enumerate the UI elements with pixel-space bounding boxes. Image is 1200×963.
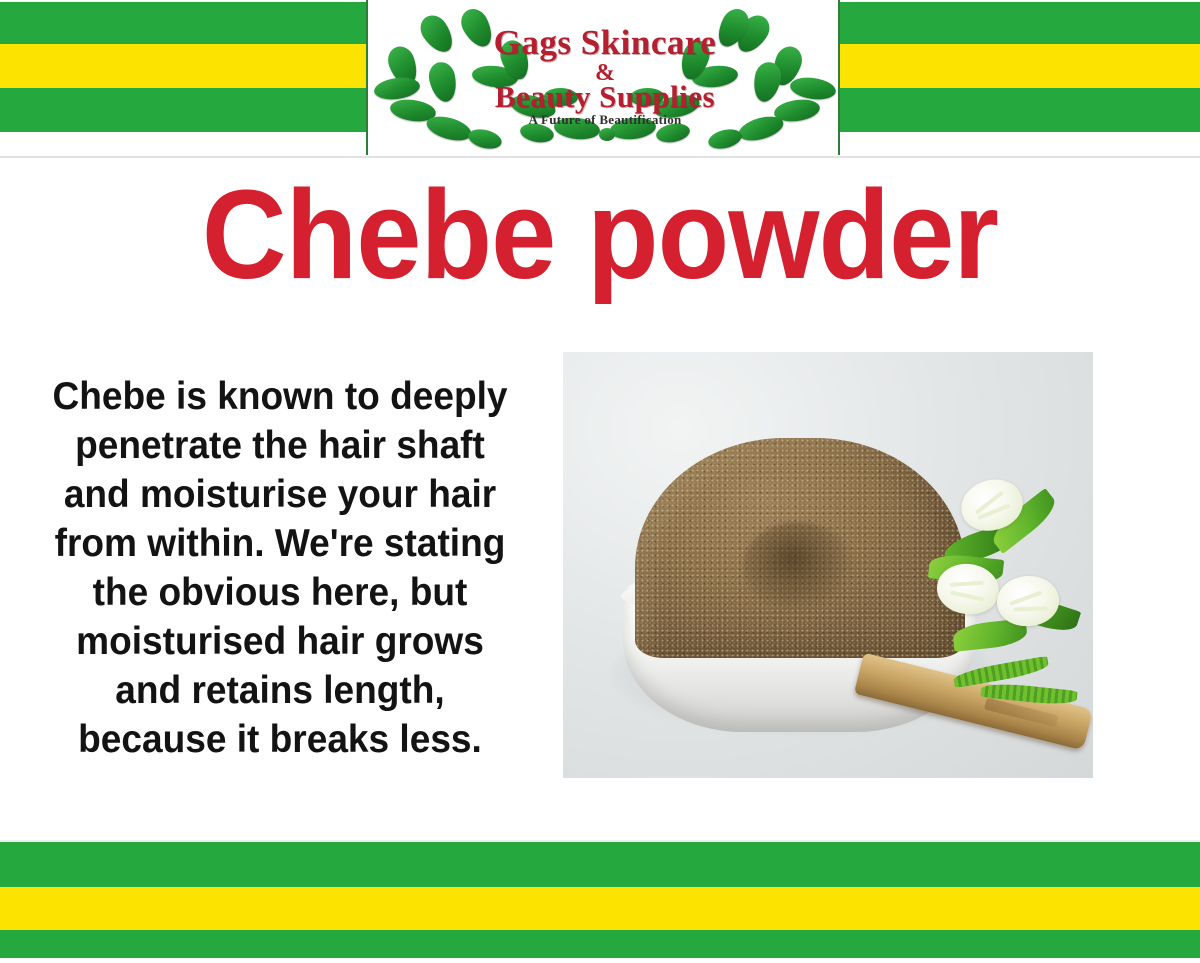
- top-banner: Gags Skincare & Beauty Supplies A Future…: [0, 0, 1200, 134]
- bottom-stripe-yellow: [0, 887, 1200, 930]
- product-photo: [563, 352, 1093, 778]
- bottom-stripe-green-upper: [0, 842, 1200, 887]
- flyer-page: Gags Skincare & Beauty Supplies A Future…: [0, 0, 1200, 963]
- description-line: from within. We're stating: [55, 522, 506, 565]
- description-line: Chebe is known to deeply: [53, 375, 508, 418]
- bottom-banner: [0, 842, 1200, 960]
- fern-frond: [952, 656, 1049, 688]
- description-line: and moisturise your hair: [64, 473, 496, 516]
- description-line: penetrate the hair shaft: [75, 424, 485, 467]
- flower-decoration: [935, 472, 1093, 772]
- bottom-stripe-green-lower: [0, 930, 1200, 958]
- description-line: and retains length,: [115, 669, 444, 712]
- description-line: moisturised hair grows: [76, 620, 484, 663]
- powder-dimple: [743, 522, 853, 612]
- description-text: Chebe is known to deeply penetrate the h…: [37, 372, 523, 764]
- brand-tagline: A Future of Beautification: [368, 112, 840, 128]
- brand-name-line-2: Beauty Supplies: [368, 79, 840, 115]
- brand-logo: Gags Skincare & Beauty Supplies A Future…: [366, 0, 840, 155]
- wreath-center-dot: [599, 128, 615, 141]
- header-divider: [0, 156, 1200, 158]
- description-line: the obvious here, but: [93, 571, 468, 614]
- brand-name-line-1: Gags Skincare: [368, 23, 840, 63]
- fern-frond: [980, 681, 1077, 707]
- page-title: Chebe powder: [42, 172, 1158, 298]
- description-line: because it breaks less.: [78, 718, 482, 761]
